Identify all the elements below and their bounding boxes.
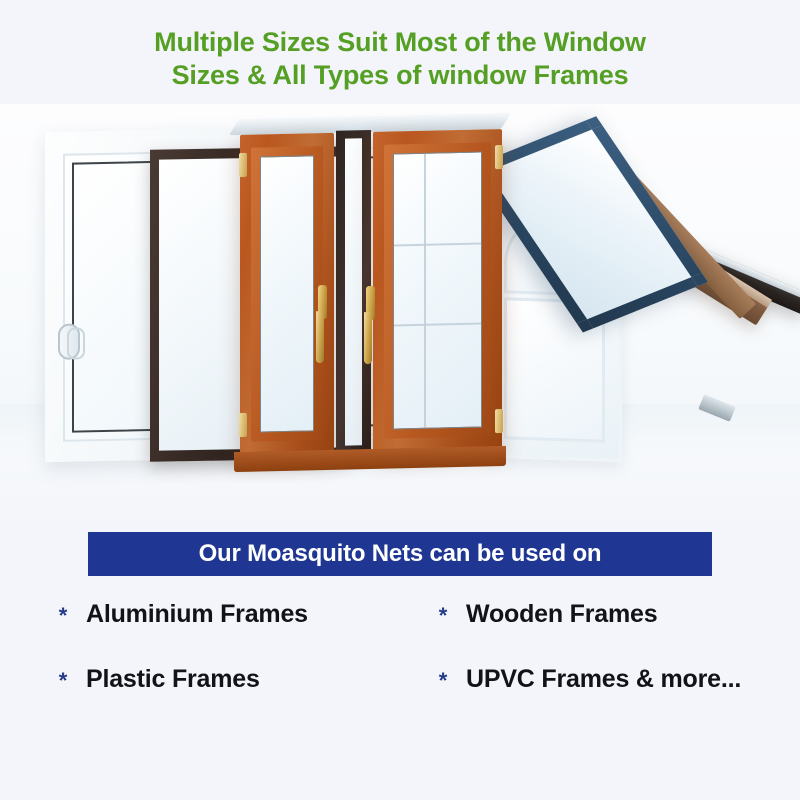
wooden-window-hinge-top-right <box>495 145 503 169</box>
wooden-window-handle-left <box>316 311 324 363</box>
page-title-line-1: Multiple Sizes Suit Most of the Window <box>60 26 740 59</box>
wooden-window-handle-right <box>364 312 372 364</box>
list-item-label: Plastic Frames <box>86 665 260 694</box>
asterisk-icon: * <box>420 668 466 692</box>
wooden-window-leaf-right <box>373 129 502 453</box>
page-title: Multiple Sizes Suit Most of the Window S… <box>0 26 800 92</box>
wooden-window-glass-right <box>393 151 482 429</box>
promo-page: Multiple Sizes Suit Most of the Window S… <box>0 0 800 800</box>
glass-muntin-horizontal-2 <box>394 322 481 326</box>
white-window-handle <box>58 323 80 359</box>
frame-types-list: * Aluminium Frames * Wooden Frames * Pla… <box>40 600 780 694</box>
section-banner-label: Our Moasquito Nets can be used on <box>199 540 602 568</box>
wooden-window-sash-left <box>251 146 323 442</box>
list-item: * Wooden Frames <box>410 600 780 629</box>
wooden-window-hinge-bottom-right <box>495 409 503 433</box>
asterisk-icon: * <box>40 603 86 627</box>
wooden-window-glass-left <box>260 155 314 432</box>
section-banner: Our Moasquito Nets can be used on <box>88 532 712 576</box>
list-item: * Plastic Frames <box>40 665 410 694</box>
wooden-window-hinge-bottom-left <box>239 413 247 437</box>
glass-muntin-horizontal-1 <box>394 243 481 247</box>
dark-window-glass-left <box>159 158 245 451</box>
wooden-double-casement-window <box>240 121 502 472</box>
hero-window-illustration <box>0 104 800 524</box>
list-item: * Aluminium Frames <box>40 600 410 629</box>
list-item-label: Aluminium Frames <box>86 600 308 629</box>
wooden-window-sash-right <box>384 142 491 438</box>
wooden-window-hinge-top-left <box>239 153 247 177</box>
list-item: * UPVC Frames & more... <box>410 665 780 694</box>
list-item-label: UPVC Frames & more... <box>466 665 741 694</box>
page-title-line-2: Sizes & All Types of window Frames <box>60 59 740 92</box>
list-item-label: Wooden Frames <box>466 600 657 629</box>
glass-muntin-vertical <box>424 154 426 428</box>
asterisk-icon: * <box>40 668 86 692</box>
asterisk-icon: * <box>420 603 466 627</box>
